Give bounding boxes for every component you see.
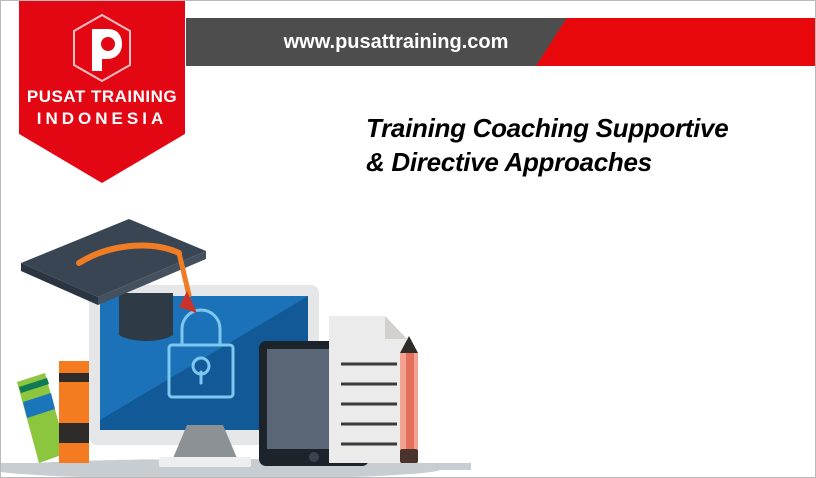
logo-shield: PUSAT TRAINING INDONESIA xyxy=(19,1,185,183)
logo-line-1: PUSAT TRAINING xyxy=(19,87,185,107)
logo-line-2: INDONESIA xyxy=(19,109,185,129)
page-title: Training Coaching Supportive & Directive… xyxy=(366,111,796,180)
document-sheet xyxy=(329,316,407,463)
e-learning-illustration xyxy=(1,201,471,478)
header-band: www.pusattraining.com xyxy=(186,18,816,66)
orange-book xyxy=(59,361,89,463)
site-url-text: www.pusattraining.com xyxy=(186,18,606,66)
pencil xyxy=(400,336,418,463)
page-title-line-1: Training Coaching Supportive xyxy=(366,111,796,145)
slide-canvas: www.pusattraining.com PUSAT TRAINING IND… xyxy=(0,0,816,478)
hexagon-p-logo-icon xyxy=(70,13,134,85)
page-title-line-2: & Directive Approaches xyxy=(366,145,796,179)
